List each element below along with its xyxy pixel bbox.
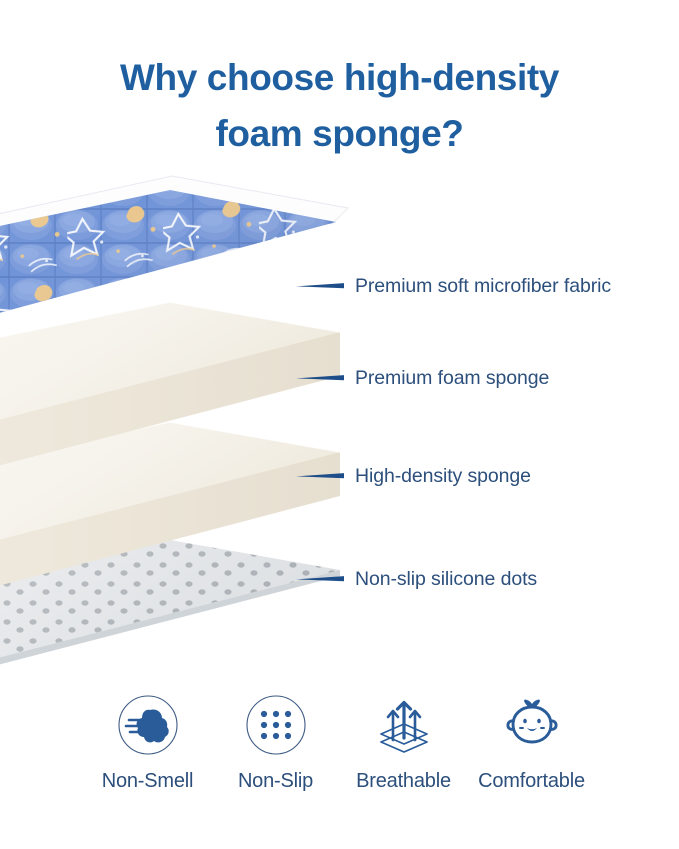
page-title: Why choose high-density foam sponge?: [0, 50, 679, 162]
callout-fabric: Premium soft microfiber fabric: [296, 275, 611, 297]
comfortable-icon: [501, 694, 563, 756]
feature-breathable: Breathable: [340, 694, 468, 793]
page-title-line-1: Why choose high-density: [0, 50, 679, 106]
feature-label: Comfortable: [478, 769, 585, 793]
non-smell-icon: [117, 694, 179, 756]
leader-line-icon: [296, 281, 346, 291]
breathable-icon: [373, 694, 435, 756]
feature-non-slip: Non-Slip: [212, 694, 340, 793]
callout-foam: Premium foam sponge: [296, 367, 549, 389]
non-slip-icon: [245, 694, 307, 756]
callout-label: High-density sponge: [355, 465, 531, 487]
callout-silicone: Non-slip silicone dots: [296, 568, 537, 590]
feature-non-smell: Non-Smell: [84, 694, 212, 793]
callout-label: Non-slip silicone dots: [355, 568, 537, 590]
callout-high-density: High-density sponge: [296, 465, 531, 487]
features-row: Non-Smell Non-Slip: [0, 694, 679, 793]
product-exploded-view: [0, 140, 430, 700]
callout-label: Premium foam sponge: [355, 367, 549, 389]
feature-label: Breathable: [356, 769, 451, 793]
leader-line-icon: [296, 471, 346, 481]
leader-line-icon: [296, 574, 346, 584]
leader-line-icon: [296, 373, 346, 383]
callout-label: Premium soft microfiber fabric: [355, 275, 611, 297]
feature-comfortable: Comfortable: [468, 694, 596, 793]
page-title-line-2: foam sponge?: [0, 106, 679, 162]
feature-label: Non-Slip: [238, 769, 313, 793]
feature-label: Non-Smell: [102, 769, 194, 793]
